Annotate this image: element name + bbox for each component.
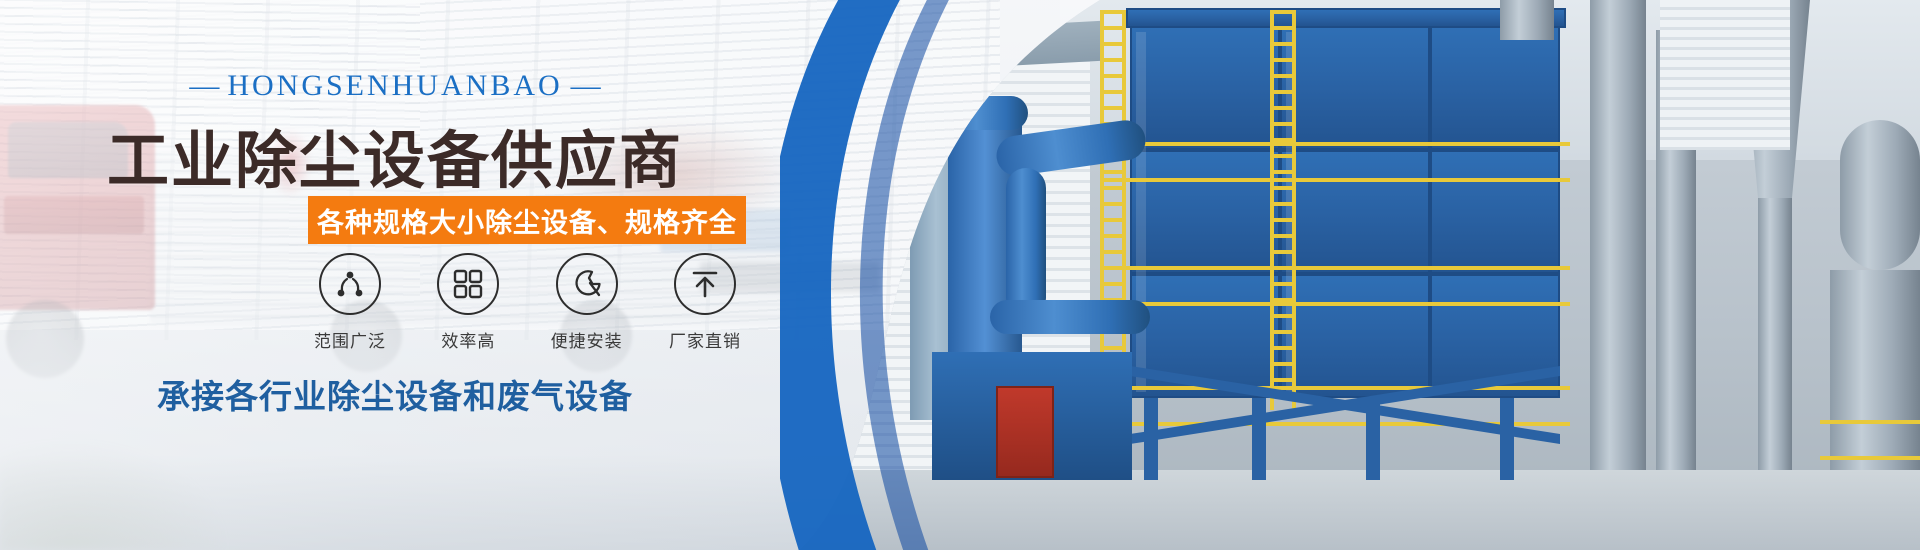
platform-railing	[1100, 142, 1570, 182]
right-corrugated-panel	[1660, 0, 1790, 150]
roof-vent	[1500, 0, 1554, 40]
hopper-leg-pipe	[1758, 198, 1792, 470]
upload-arrow-icon	[674, 253, 736, 315]
support-leg	[1500, 398, 1514, 480]
baghouse-module	[1130, 26, 1280, 150]
platform-railing	[1100, 266, 1570, 306]
baghouse-module	[1280, 26, 1430, 150]
hero-banner: —HONGSENHUANBAO— 工业除尘设备供应商 各种规格大小除尘设备、规格…	[0, 0, 1920, 550]
horizontal-tank	[1840, 120, 1920, 270]
subtitle-banner: 各种规格大小除尘设备、规格齐全	[308, 196, 746, 244]
share-nodes-icon	[319, 253, 381, 315]
dash-right: —	[563, 69, 609, 102]
feature-item-coverage[interactable]: 范围广泛	[300, 253, 400, 352]
baghouse-module	[1430, 26, 1560, 150]
baghouse-highlight	[1136, 32, 1146, 392]
concrete-ground	[800, 470, 1920, 550]
feature-item-installation[interactable]: 便捷安装	[537, 253, 637, 352]
support-leg	[1252, 398, 1266, 480]
feature-label: 便捷安装	[537, 327, 637, 352]
ladder-yellow	[1270, 10, 1296, 410]
banner-content: —HONGSENHUANBAO— 工业除尘设备供应商 各种规格大小除尘设备、规格…	[0, 0, 820, 550]
feature-label: 厂家直销	[655, 327, 755, 352]
grid-squares-icon	[437, 253, 499, 315]
feature-item-direct-sales[interactable]: 厂家直销	[655, 253, 755, 352]
platform-railing	[1820, 420, 1920, 460]
eyebrow-text: HONGSENHUANBAO	[227, 69, 562, 102]
feature-item-efficiency[interactable]: 效率高	[418, 253, 518, 352]
ladder-yellow	[1100, 10, 1126, 410]
down-pipe	[1006, 168, 1046, 318]
grey-tower	[1590, 0, 1646, 470]
subtitle-banner-text: 各种规格大小除尘设备、规格齐全	[317, 201, 737, 240]
wrench-icon	[556, 253, 618, 315]
banner-tagline: 承接各行业除尘设备和废气设备	[0, 370, 790, 418]
feature-list: 范围广泛 效率高	[300, 253, 755, 352]
page-title: 工业除尘设备供应商	[0, 110, 790, 200]
feature-label: 范围广泛	[300, 327, 400, 352]
access-door	[996, 386, 1054, 478]
eyebrow-line: —HONGSENHUANBAO—	[0, 69, 790, 103]
feature-label: 效率高	[418, 327, 518, 352]
lower-duct	[990, 300, 1150, 334]
dash-left: —	[181, 69, 227, 102]
